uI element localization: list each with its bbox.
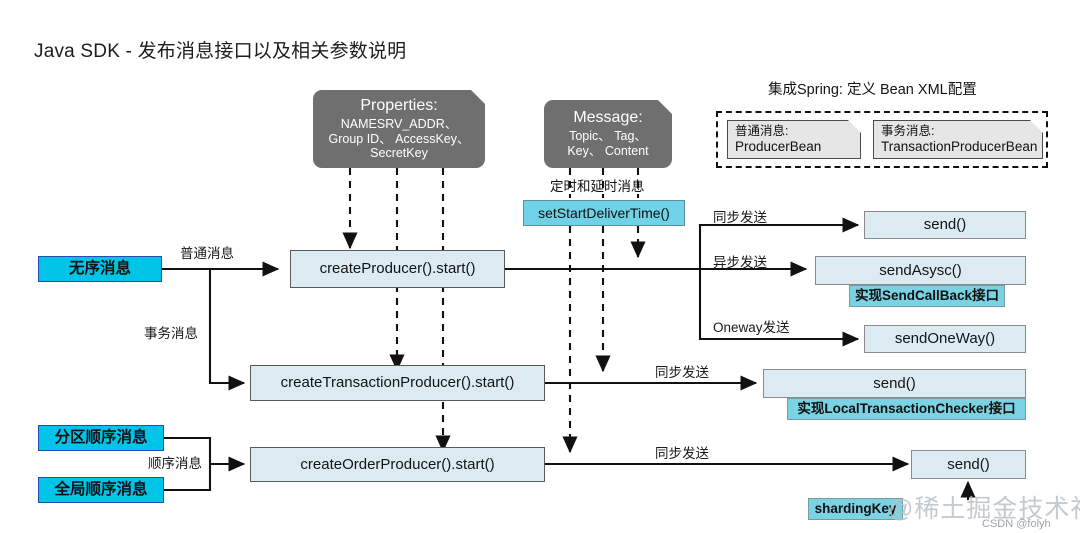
send-async-callback-box[interactable]: 实现SendCallBack接口 xyxy=(849,285,1005,307)
entry-global-ordered-message[interactable]: 全局顺序消息 xyxy=(38,477,164,503)
spring-bean-producer-label: 普通消息: xyxy=(735,124,788,139)
message-callout: Message: Topic、 Tag、 Key、 Content xyxy=(544,100,672,168)
timer-caption: 定时和延时消息 xyxy=(550,175,645,195)
edge-label-transaction-message: 事务消息 xyxy=(144,322,198,342)
send-order-box[interactable]: send() xyxy=(911,450,1026,479)
spring-bean-transaction-producer-label: 事务消息: xyxy=(881,124,934,139)
spring-bean-producer-value: ProducerBean xyxy=(735,139,821,155)
properties-line-2: Group ID、 AccessKey、 xyxy=(328,132,469,147)
set-start-deliver-time-box[interactable]: setStartDeliverTime() xyxy=(523,200,685,226)
edge-label-oneway-send: Oneway发送 xyxy=(713,316,790,336)
create-order-producer-box[interactable]: createOrderProducer().start() xyxy=(250,447,545,482)
spring-bean-transaction-producer-value: TransactionProducerBean xyxy=(881,139,1037,155)
send-sync-box[interactable]: send() xyxy=(864,211,1026,239)
create-producer-box[interactable]: createProducer().start() xyxy=(290,250,505,288)
send-oneway-box[interactable]: sendOneWay() xyxy=(864,325,1026,353)
send-transaction-box[interactable]: send() xyxy=(763,369,1026,398)
properties-callout: Properties: NAMESRV_ADDR、 Group ID、 Acce… xyxy=(313,90,485,168)
message-header: Message: xyxy=(573,109,642,128)
spring-bean-transaction-producer: 事务消息: TransactionProducerBean xyxy=(873,120,1043,159)
page-title: Java SDK - 发布消息接口以及相关参数说明 xyxy=(34,36,406,63)
create-transaction-producer-box[interactable]: createTransactionProducer().start() xyxy=(250,365,545,401)
send-transaction-checker-box[interactable]: 实现LocalTransactionChecker接口 xyxy=(787,398,1026,420)
edge-label-ordered-message: 顺序消息 xyxy=(148,452,202,472)
edge-label-sync-send-1: 同步发送 xyxy=(713,206,767,226)
diagram-canvas: Java SDK - 发布消息接口以及相关参数说明 xyxy=(0,0,1080,533)
edge-label-normal-message: 普通消息 xyxy=(180,242,234,262)
properties-header: Properties: xyxy=(360,97,437,116)
edge-label-sync-send-3: 同步发送 xyxy=(655,442,709,462)
send-async-box[interactable]: sendAsysc() xyxy=(815,256,1026,285)
watermark-secondary: CSDN @folyh xyxy=(982,518,1051,530)
edge-label-async-send: 异步发送 xyxy=(713,251,767,271)
entry-partition-ordered-message[interactable]: 分区顺序消息 xyxy=(38,425,164,451)
properties-line-1: NAMESRV_ADDR、 xyxy=(341,117,457,132)
edge-label-sync-send-2: 同步发送 xyxy=(655,361,709,381)
spring-bean-producer: 普通消息: ProducerBean xyxy=(727,120,861,159)
message-line-1: Topic、 Tag、 xyxy=(569,129,647,144)
entry-unordered-message[interactable]: 无序消息 xyxy=(38,256,162,282)
properties-line-3: SecretKey xyxy=(370,146,428,161)
spring-caption: 集成Spring: 定义 Bean XML配置 xyxy=(768,78,977,99)
message-line-2: Key、 Content xyxy=(567,144,648,159)
